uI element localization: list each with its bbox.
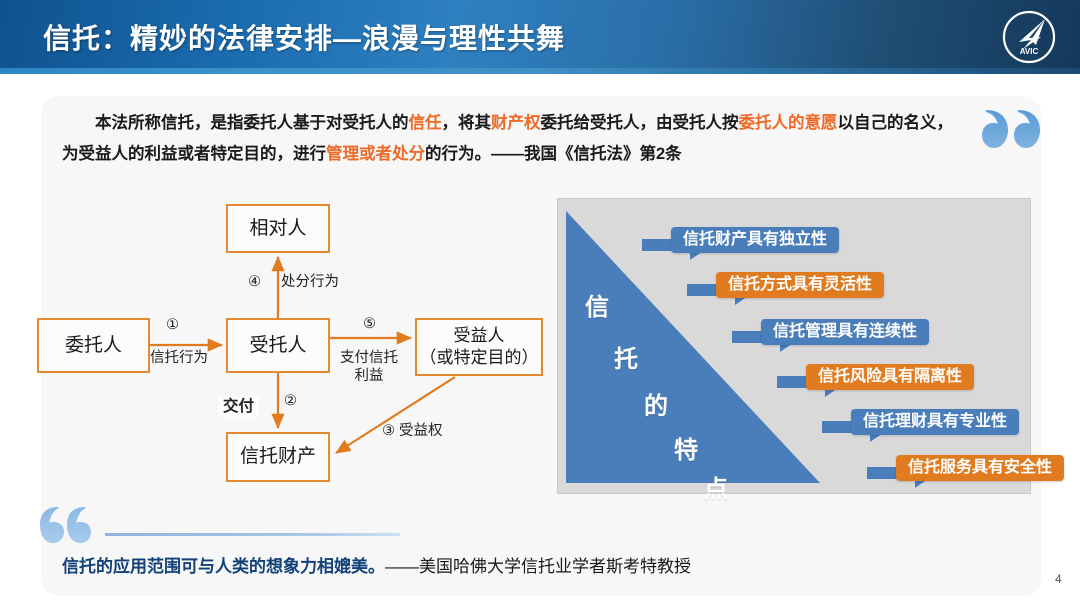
flow-label-pay-benefit: 支付信托利益 [334,349,404,385]
law-seg-4: 委托给受托人，由受托人按 [541,114,739,132]
flow-label-step1-number: ① [166,317,179,334]
flow-box-trustee: 受托人 [226,318,330,373]
flow-box-counterparty: 相对人 [226,204,330,253]
feature-item-0: 信托财产具有独立性 [671,227,839,253]
flow-box-beneficiary: 受益人 （或特定目的） [415,318,543,376]
feature-item-1: 信托方式具有灵活性 [716,272,884,298]
bottom-quote: 信托的应用范围可与人类的想象力相媲美。——美国哈佛大学信托业学者斯考特教授 [62,555,691,579]
law-seg-5-highlight: 委托人的意愿 [739,114,838,132]
feature-item-4: 信托理财具有专业性 [851,409,1019,435]
flow-label-step5-number: ⑤ [363,316,376,333]
trust-flow-diagram: 相对人 委托人 受托人 受益人 （或特定目的） 信托财产 ① 信托行为 ④ 处分… [0,0,560,330]
beneficiary-line-2: （或特定目的） [420,347,539,369]
bottom-quote-text: 信托的应用范围可与人类的想象力相媲美。 [62,557,385,576]
feature-item-5: 信托服务具有安全性 [896,455,1064,481]
trust-features-panel: 信 托 的 特 点 信托财产具有独立性 信托方式具有灵活性 信托管理具有连续性 … [557,198,1031,494]
quote-divider-rule [105,533,400,536]
beneficiary-line-1: 受益人 [420,325,539,347]
bottom-quote-attribution: ——美国哈佛大学信托业学者斯考特教授 [385,557,691,576]
feature-item-2: 信托管理具有连续性 [761,319,929,345]
flow-label-step4-number: ④ [248,274,261,291]
flow-box-trust-property: 信托财产 [226,432,330,482]
avic-logo-icon: AVIC [1001,9,1057,65]
flow-label-disposal-act: 处分行为 [281,274,339,291]
flow-label-step2-number: ② [284,393,297,410]
pyramid-char-2: 的 [644,386,668,421]
pyramid-char-0: 信 [585,287,609,322]
feature-item-3: 信托风险具有隔离性 [806,364,974,390]
pyramid-char-4: 点 [704,469,728,504]
flow-label-delivery: 交付 [218,396,259,417]
flow-box-settlor: 委托人 [37,318,150,373]
avic-logo-text: AVIC [1020,47,1039,56]
flow-label-trust-act: 信托行为 [150,350,208,367]
pyramid-char-1: 托 [614,339,638,374]
quote-mark-decoration-top [980,106,1042,152]
flow-label-benefit-right: ③ 受益权 [382,423,443,440]
page-number: 4 [1055,572,1062,586]
quote-mark-decoration-bottom [40,505,92,545]
pyramid-char-3: 特 [674,430,698,465]
